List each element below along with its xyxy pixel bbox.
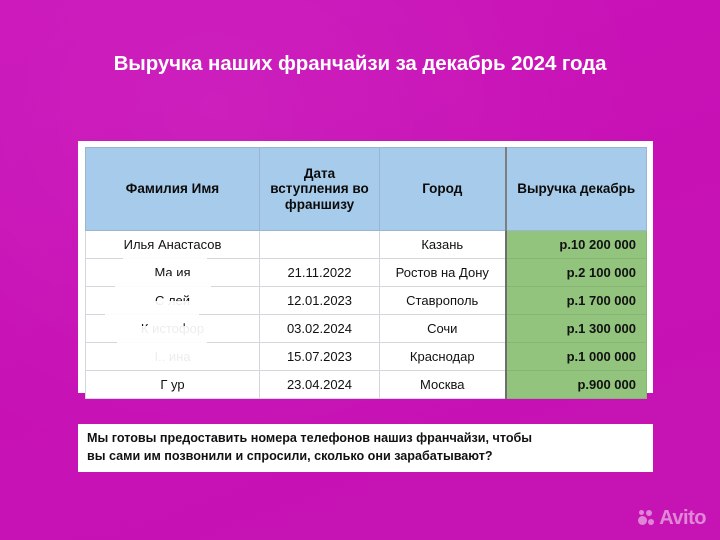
cell-revenue: р.1 300 000 <box>506 315 647 343</box>
cell-city: Ставрополь <box>380 287 506 315</box>
table-row: Ма ия 21.11.2022 Ростов на Дону р.2 100 … <box>86 259 647 287</box>
table-row: Илья Анастасов Казань р.10 200 000 <box>86 231 647 259</box>
cell-city: Краснодар <box>380 343 506 371</box>
table-row: К истофор 03.02.2024 Сочи р.1 300 000 <box>86 315 647 343</box>
table-row: І.. ина 15.07.2023 Краснодар р.1 000 000 <box>86 343 647 371</box>
caption-box: Мы готовы предоставить номера телефонов … <box>78 424 653 472</box>
cell-revenue: р.900 000 <box>506 371 647 399</box>
cell-name: Ма ия <box>86 259 260 287</box>
cell-city: Казань <box>380 231 506 259</box>
cell-city: Ростов на Дону <box>380 259 506 287</box>
cell-date: 23.04.2024 <box>260 371 380 399</box>
cell-revenue: р.2 100 000 <box>506 259 647 287</box>
caption-line-1: Мы готовы предоставить номера телефонов … <box>87 430 644 448</box>
cell-name: І.. ина <box>86 343 260 371</box>
cell-revenue: р.10 200 000 <box>506 231 647 259</box>
cell-date: 21.11.2022 <box>260 259 380 287</box>
cell-date: 03.02.2024 <box>260 315 380 343</box>
cell-city: Москва <box>380 371 506 399</box>
revenue-table: Фамилия Имя Дата вступления во франшизу … <box>85 147 647 399</box>
cell-revenue: р.1 700 000 <box>506 287 647 315</box>
cell-date: 15.07.2023 <box>260 343 380 371</box>
table-row: Г ур 23.04.2024 Москва р.900 000 <box>86 371 647 399</box>
cell-revenue: р.1 000 000 <box>506 343 647 371</box>
cell-city: Сочи <box>380 315 506 343</box>
cell-name: К истофор <box>86 315 260 343</box>
avito-watermark: Avito <box>638 508 706 528</box>
cell-name: С лей <box>86 287 260 315</box>
column-header-date: Дата вступления во франшизу <box>260 148 380 231</box>
slide-canvas: Выручка наших франчайзи за декабрь 2024 … <box>0 0 720 540</box>
page-title: Выручка наших франчайзи за декабрь 2024 … <box>0 52 720 76</box>
spreadsheet-area: Фамилия Имя Дата вступления во франшизу … <box>85 147 646 387</box>
avito-wordmark: Avito <box>659 508 706 528</box>
cell-date <box>260 231 380 259</box>
avito-dots-icon <box>638 509 656 527</box>
table-row: С лей 12.01.2023 Ставрополь р.1 700 000 <box>86 287 647 315</box>
revenue-table-card: Фамилия Имя Дата вступления во франшизу … <box>78 141 653 393</box>
cell-date: 12.01.2023 <box>260 287 380 315</box>
cell-name: Г ур <box>86 371 260 399</box>
table-header-row: Фамилия Имя Дата вступления во франшизу … <box>86 148 647 231</box>
caption-line-2: вы сами им позвонили и спросили, сколько… <box>87 448 644 466</box>
column-header-city: Город <box>380 148 506 231</box>
column-header-name: Фамилия Имя <box>86 148 260 231</box>
cell-name: Илья Анастасов <box>86 231 260 259</box>
column-header-revenue: Выручка декабрь <box>506 148 647 231</box>
